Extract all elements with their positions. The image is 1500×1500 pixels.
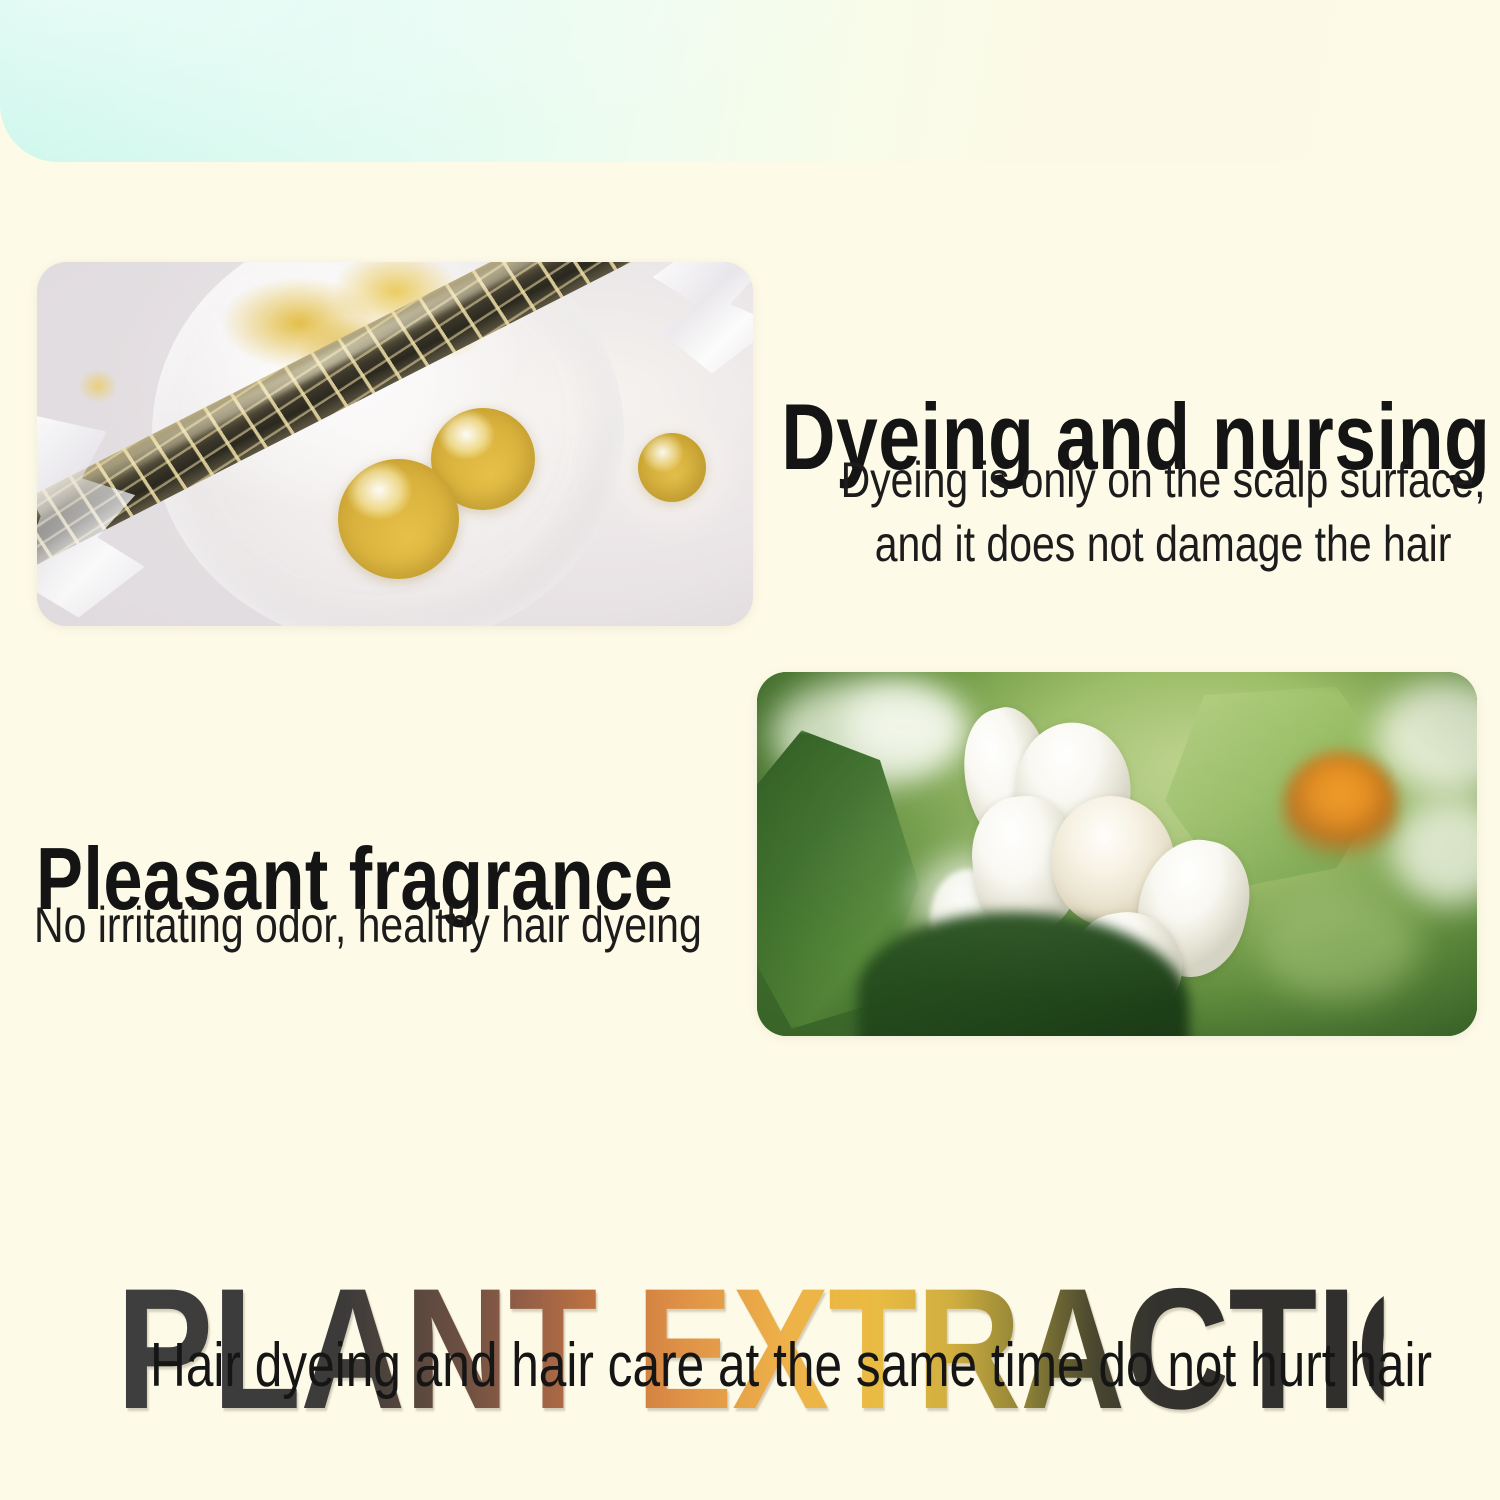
banner-tagline: Hair dyeing and hair care at the same ti… [150, 1330, 1350, 1401]
feature-image-dyeing-and-nursing [37, 262, 753, 626]
photo-vignette [37, 262, 753, 626]
jasmine-photo [757, 672, 1477, 1036]
feature-image-pleasant-fragrance [757, 672, 1477, 1036]
photo-vignette [757, 672, 1477, 1036]
feature-subtitle-dyeing-and-nursing: Dyeing is only on the scalp surface, and… [841, 448, 1486, 576]
feature-subtitle-pleasant-fragrance: No irritating odor, healthy hair dyeing [34, 893, 702, 957]
serum-photo [37, 262, 753, 626]
product-feature-poster: Dyeing and nursing Dyeing is only on the… [0, 0, 1500, 1500]
top-gradient-band [0, 0, 1500, 162]
feature-subtitle-line: Dyeing is only on the scalp surface, [841, 448, 1486, 512]
band-sheen-overlay [0, 0, 1100, 162]
feature-subtitle-line: and it does not damage the hair [841, 512, 1486, 576]
